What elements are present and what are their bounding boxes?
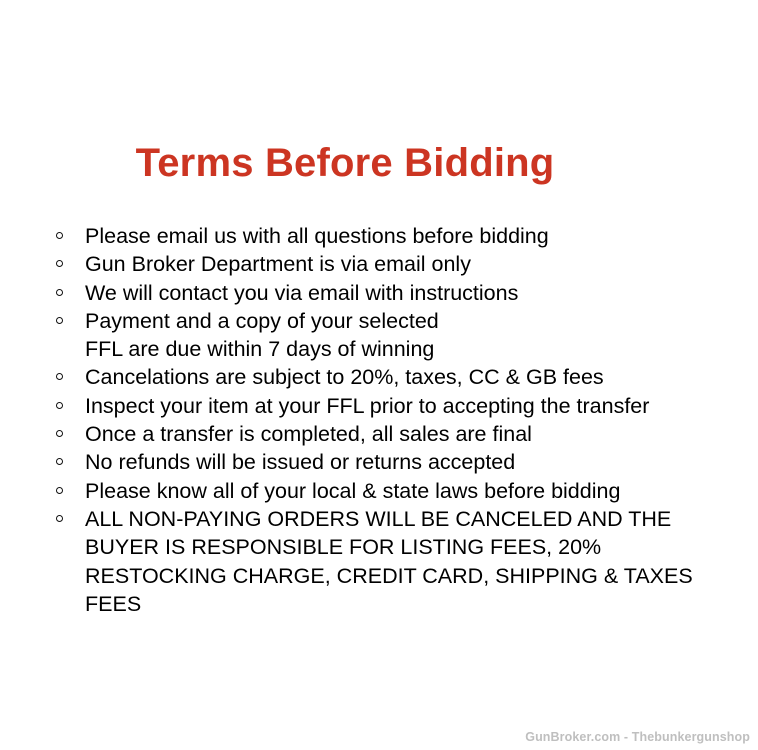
list-item-label: Once a transfer is completed, all sales … xyxy=(85,420,752,448)
bullet-circle-icon xyxy=(56,458,63,465)
list-item: Cancelations are subject to 20%, taxes, … xyxy=(52,363,752,391)
bullet-circle-icon xyxy=(56,402,63,409)
terms-list: Please email us with all questions befor… xyxy=(52,222,752,618)
bullet-circle-icon xyxy=(56,232,63,239)
bullet-circle-icon xyxy=(56,487,63,494)
bullet-circle-icon xyxy=(56,289,63,296)
terms-page: Terms Before Bidding Please email us wit… xyxy=(0,0,758,750)
list-item: ALL NON-PAYING ORDERS WILL BE CANCELED A… xyxy=(52,505,752,618)
list-item-label: Please know all of your local & state la… xyxy=(85,477,752,505)
list-item-label: No refunds will be issued or returns acc… xyxy=(85,448,752,476)
gunbroker-watermark: GunBroker.com - Thebunkergunshop xyxy=(525,730,750,744)
page-title: Terms Before Bidding xyxy=(0,138,690,188)
list-item-label: ALL NON-PAYING ORDERS WILL BE CANCELED A… xyxy=(85,505,752,618)
bullet-circle-icon xyxy=(56,515,63,522)
bullet-circle-icon xyxy=(56,317,63,324)
bullet-circle-icon xyxy=(56,373,63,380)
list-item-label: Gun Broker Department is via email only xyxy=(85,250,752,278)
list-item: Once a transfer is completed, all sales … xyxy=(52,420,752,448)
list-item: Payment and a copy of your selected FFL … xyxy=(52,307,752,364)
list-item: We will contact you via email with instr… xyxy=(52,279,752,307)
list-item: Inspect your item at your FFL prior to a… xyxy=(52,392,752,420)
bullet-circle-icon xyxy=(56,260,63,267)
list-item-label: Cancelations are subject to 20%, taxes, … xyxy=(85,363,752,391)
list-item: Gun Broker Department is via email only xyxy=(52,250,752,278)
list-item: Please know all of your local & state la… xyxy=(52,477,752,505)
list-item-label: We will contact you via email with instr… xyxy=(85,279,752,307)
bullet-circle-icon xyxy=(56,430,63,437)
list-item: Please email us with all questions befor… xyxy=(52,222,752,250)
list-item: No refunds will be issued or returns acc… xyxy=(52,448,752,476)
list-item-label: Inspect your item at your FFL prior to a… xyxy=(85,392,752,420)
list-item-label: Payment and a copy of your selected FFL … xyxy=(85,307,752,364)
list-item-label: Please email us with all questions befor… xyxy=(85,222,752,250)
